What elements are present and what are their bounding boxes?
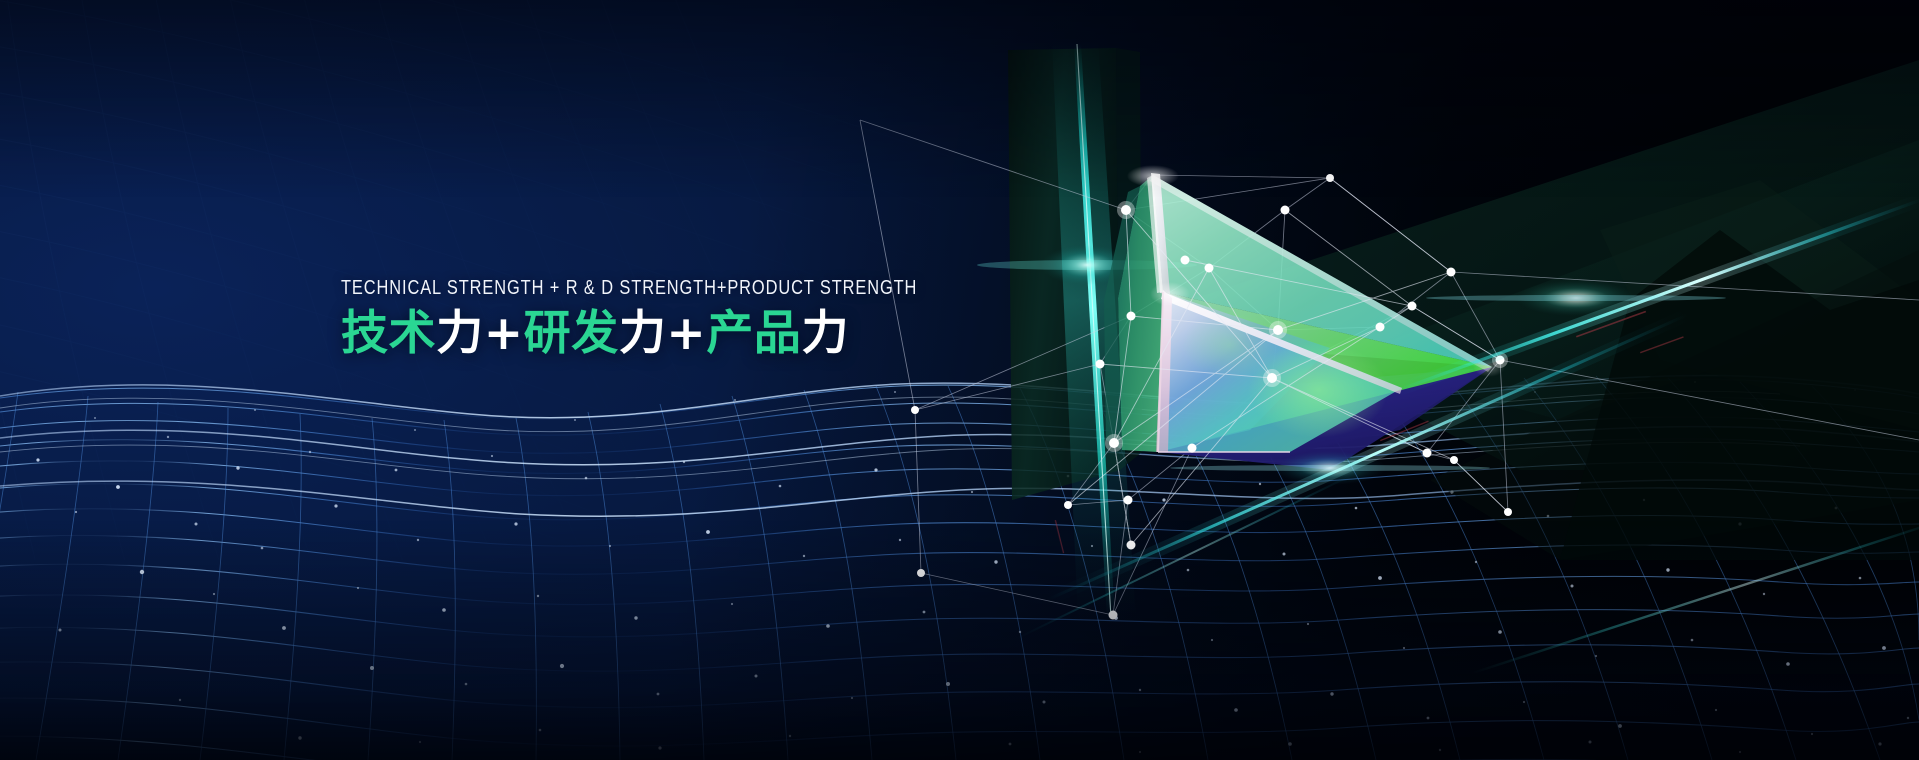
banner-headline-chinese: 技术力+研发力+产品力 [341, 306, 981, 361]
headline-segment-6: 产品 [706, 306, 801, 361]
banner-copy: TECHNICAL STRENGTH + R & D STRENGTH+PROD… [341, 277, 981, 361]
headline-segment-4: 力 [619, 306, 667, 361]
hero-banner: TECHNICAL STRENGTH + R & D STRENGTH+PROD… [0, 0, 1919, 760]
headline-segment-3: 研发 [524, 306, 619, 361]
headline-segment-5: + [666, 306, 706, 361]
headline-segment-2: + [484, 306, 524, 361]
headline-segment-0: 技术 [341, 306, 436, 361]
banner-eyebrow-english: TECHNICAL STRENGTH + R & D STRENGTH+PROD… [341, 277, 853, 300]
top-vignette [0, 0, 1919, 760]
headline-segment-7: 力 [801, 306, 849, 361]
headline-segment-1: 力 [436, 306, 484, 361]
